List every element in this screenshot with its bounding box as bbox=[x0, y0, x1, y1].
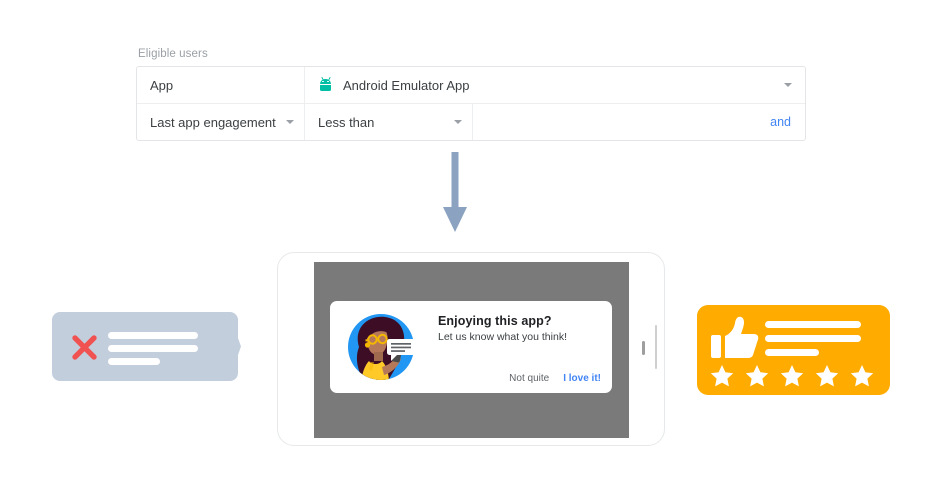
condition-row-engagement: Last app engagement Less than and bbox=[137, 103, 805, 140]
chevron-down-icon[interactable] bbox=[286, 120, 294, 124]
placeholder-line bbox=[108, 358, 160, 365]
positive-feedback-bubble bbox=[697, 305, 890, 395]
placeholder-line bbox=[765, 349, 819, 356]
placeholder-line bbox=[765, 321, 861, 328]
operator-label: Less than bbox=[318, 115, 374, 130]
woman-with-phone-avatar-icon bbox=[341, 307, 421, 387]
app-value-cell[interactable]: Android Emulator App bbox=[305, 67, 805, 103]
down-arrow-icon bbox=[440, 152, 470, 237]
chevron-down-icon[interactable] bbox=[454, 120, 462, 124]
negative-feedback-bubble bbox=[52, 312, 241, 381]
app-key-cell[interactable]: App bbox=[137, 67, 305, 103]
rating-dialog: Enjoying this app? Let us know what you … bbox=[330, 301, 612, 393]
android-robot-icon bbox=[319, 78, 332, 92]
placeholder-line bbox=[108, 332, 198, 339]
dialog-text-block: Enjoying this app? Let us know what you … bbox=[438, 314, 600, 343]
eligible-users-label: Eligible users bbox=[136, 48, 806, 60]
app-key-label: App bbox=[150, 78, 173, 93]
positive-feedback-card bbox=[697, 305, 890, 395]
negative-feedback-card bbox=[52, 312, 241, 381]
engagement-key-cell[interactable]: Last app engagement bbox=[137, 104, 305, 140]
i-love-it-button[interactable]: I love it! bbox=[563, 373, 601, 384]
avatar bbox=[341, 307, 421, 387]
dialog-title: Enjoying this app? bbox=[438, 314, 600, 328]
placeholder-line bbox=[765, 335, 861, 342]
engagement-value-cell[interactable]: and bbox=[473, 104, 805, 140]
condition-row-app: App Android Emulator App bbox=[137, 67, 805, 103]
home-button-indicator bbox=[642, 341, 645, 355]
not-quite-button[interactable]: Not quite bbox=[509, 373, 549, 384]
operator-cell[interactable]: Less than bbox=[305, 104, 473, 140]
dialog-actions: Not quite I love it! bbox=[509, 373, 601, 384]
placeholder-line bbox=[108, 345, 198, 352]
and-conjunction-link[interactable]: and bbox=[770, 115, 791, 129]
dialog-subtitle: Let us know what you think! bbox=[438, 331, 600, 343]
app-value-label: Android Emulator App bbox=[343, 78, 469, 93]
engagement-key-label: Last app engagement bbox=[150, 115, 276, 130]
eligible-users-form: Eligible users App Android Emulator App bbox=[136, 48, 806, 141]
condition-card: App Android Emulator App Last app engage… bbox=[136, 66, 806, 141]
side-button-indicator bbox=[655, 325, 657, 369]
flow-down-arrow bbox=[440, 152, 470, 237]
chevron-down-icon[interactable] bbox=[784, 83, 792, 87]
